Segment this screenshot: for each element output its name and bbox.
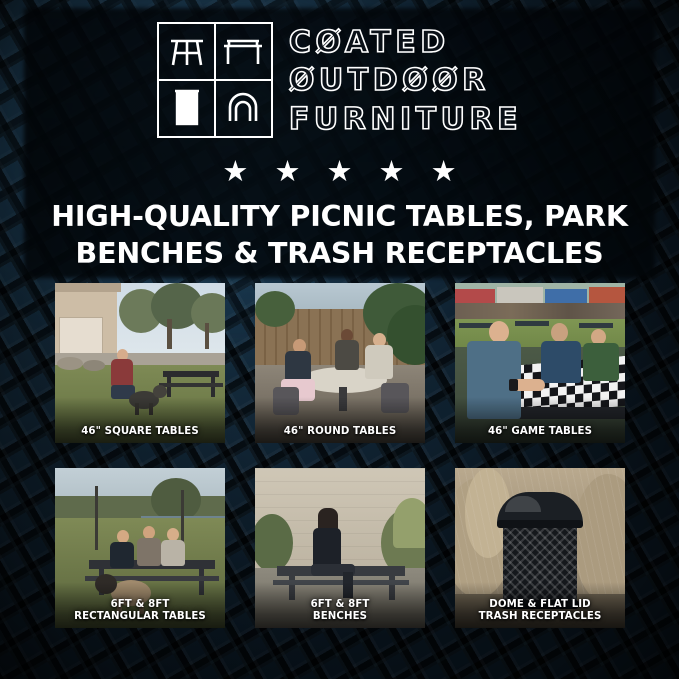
product-card-benches[interactable]: 6FT & 8FT BENCHES — [255, 468, 425, 628]
advertisement-banner: CØATED ØUTDØØR FURNITURE ★ ★ ★ ★ ★ HIGH-… — [0, 0, 679, 679]
headline-line-2: BENCHES & TRASH RECEPTACLES — [30, 235, 649, 272]
product-caption-game-tables: 46" GAME TABLES — [455, 426, 625, 438]
caption-line-1: 6FT & 8FT — [311, 599, 370, 610]
caption-line-1: DOME & FLAT LID — [489, 599, 590, 610]
product-card-game-tables[interactable]: 46" GAME TABLES — [455, 283, 625, 443]
product-caption-benches: 6FT & 8FT BENCHES — [255, 599, 425, 623]
caption-line-2: BENCHES — [313, 611, 367, 622]
brand-logo: CØATED ØUTDØØR FURNITURE — [0, 22, 679, 139]
caption-line-1: 46" GAME TABLES — [488, 426, 592, 437]
product-caption-round-tables: 46" ROUND TABLES — [255, 426, 425, 438]
logo-icon-grid — [157, 22, 273, 138]
brand-line-3: FURNITURE — [289, 101, 522, 139]
product-photo-grid: 46" SQUARE TABLES — [55, 283, 625, 628]
star-rating: ★ ★ ★ ★ ★ — [0, 158, 679, 187]
brand-wordmark: CØATED ØUTDØØR FURNITURE — [289, 22, 522, 139]
brand-line-2: ØUTDØØR — [289, 62, 522, 100]
product-caption-trash-receptacles: DOME & FLAT LID TRASH RECEPTACLES — [455, 599, 625, 623]
product-card-round-tables[interactable]: 46" ROUND TABLES — [255, 283, 425, 443]
park-bench-icon — [214, 23, 272, 81]
product-caption-rectangular-tables: 6FT & 8FT RECTANGULAR TABLES — [55, 599, 225, 623]
product-card-square-tables[interactable]: 46" SQUARE TABLES — [55, 283, 225, 443]
product-caption-square-tables: 46" SQUARE TABLES — [55, 426, 225, 438]
arch-bench-icon — [214, 79, 272, 137]
caption-line-1: 46" ROUND TABLES — [284, 426, 397, 437]
caption-line-2: TRASH RECEPTACLES — [479, 611, 602, 622]
caption-line-2: RECTANGULAR TABLES — [74, 611, 206, 622]
headline: HIGH-QUALITY PICNIC TABLES, PARK BENCHES… — [30, 198, 649, 272]
caption-line-1: 6FT & 8FT — [111, 599, 170, 610]
product-card-trash-receptacles[interactable]: DOME & FLAT LID TRASH RECEPTACLES — [455, 468, 625, 628]
caption-line-1: 46" SQUARE TABLES — [81, 426, 199, 437]
product-card-rectangular-tables[interactable]: 6FT & 8FT RECTANGULAR TABLES — [55, 468, 225, 628]
headline-line-1: HIGH-QUALITY PICNIC TABLES, PARK — [51, 200, 627, 233]
picnic-table-icon — [158, 23, 216, 81]
brand-line-1: CØATED — [289, 24, 522, 62]
trash-receptacle-icon — [158, 79, 216, 137]
